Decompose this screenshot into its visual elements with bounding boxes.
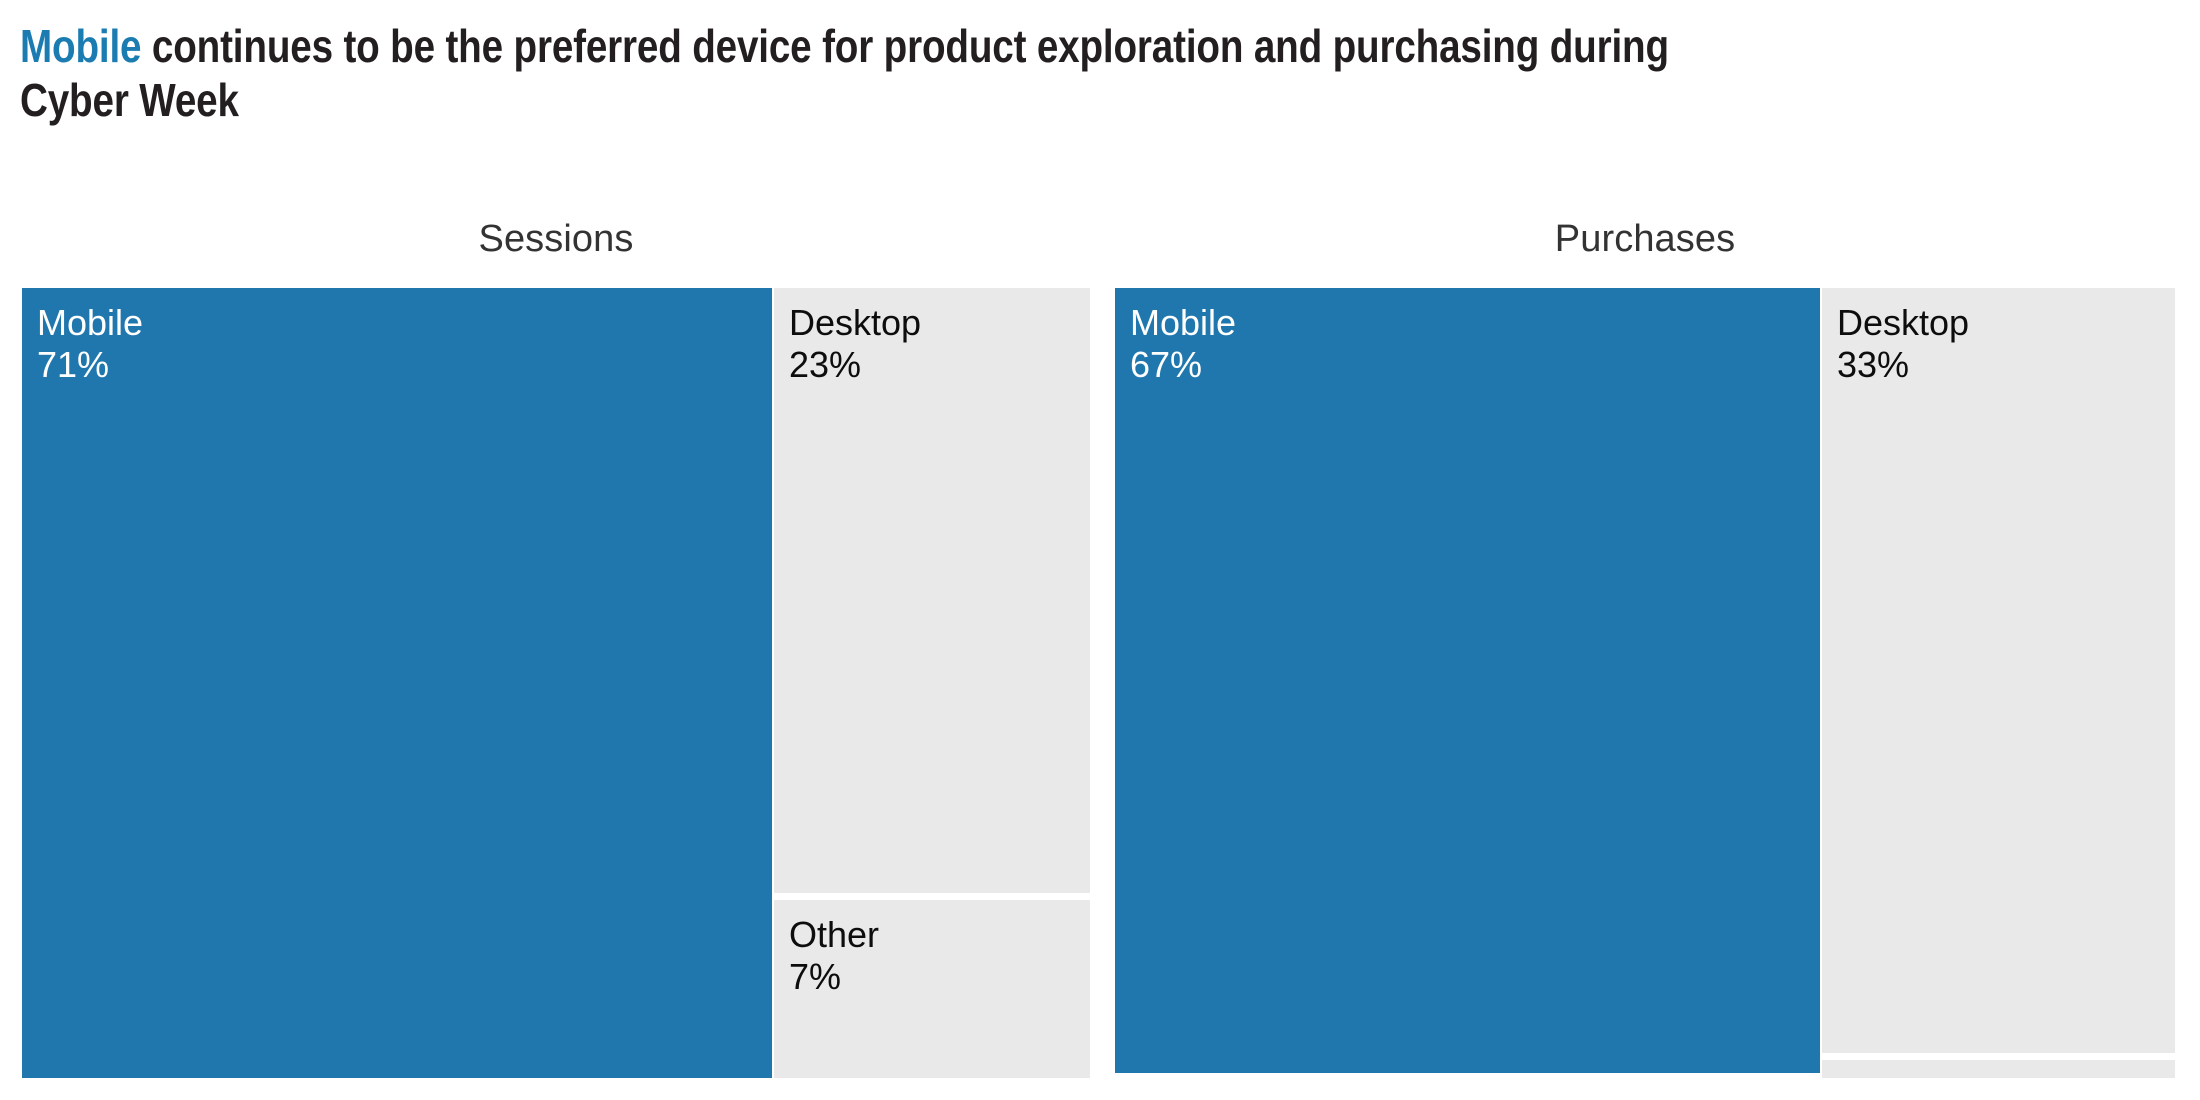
panel-purchases: Purchases Mobile 67% Desktop 33% Other — [1115, 288, 2175, 1078]
purchases-segment-other[interactable]: Other — [1822, 1060, 2175, 1078]
sessions-secondary-column: Desktop 23% Other 7% — [774, 288, 1090, 1078]
purchases-mobile-name: Mobile — [1130, 302, 1236, 343]
panel-purchases-title: Purchases — [1115, 218, 2175, 261]
treemap-chart-area: Sessions Mobile 71% Desktop 23% Other — [0, 0, 2200, 1100]
purchases-mobile-column: Mobile 67% — [1115, 288, 1820, 1078]
sessions-mobile-name: Mobile — [37, 302, 143, 343]
sessions-desktop-name: Desktop — [789, 302, 921, 343]
panel-sessions: Sessions Mobile 71% Desktop 23% Other — [22, 288, 1090, 1078]
sessions-mobile-pct: 71% — [37, 344, 143, 386]
purchases-other-name: Other — [1837, 1074, 1927, 1078]
purchases-mobile-pct: 67% — [1130, 344, 1236, 386]
sessions-desktop-pct: 23% — [789, 344, 921, 386]
purchases-desktop-label: Desktop 33% — [1837, 302, 1969, 386]
purchases-desktop-pct: 33% — [1837, 344, 1969, 386]
panel-sessions-title: Sessions — [22, 218, 1090, 261]
sessions-other-name: Other — [789, 914, 879, 955]
sessions-segment-other[interactable]: Other 7% — [774, 900, 1090, 1078]
sessions-segment-mobile[interactable]: Mobile 71% — [22, 288, 772, 1078]
purchases-segment-desktop[interactable]: Desktop 33% — [1822, 288, 2175, 1053]
purchases-secondary-column: Desktop 33% Other — [1822, 288, 2175, 1078]
sessions-desktop-label: Desktop 23% — [789, 302, 921, 386]
purchases-desktop-name: Desktop — [1837, 302, 1969, 343]
sessions-mobile-column: Mobile 71% — [22, 288, 772, 1078]
sessions-other-label: Other 7% — [789, 914, 879, 998]
sessions-other-pct: 7% — [789, 956, 879, 998]
purchases-segment-mobile[interactable]: Mobile 67% — [1115, 288, 1820, 1073]
sessions-mobile-label: Mobile 71% — [37, 302, 143, 386]
sessions-segment-desktop[interactable]: Desktop 23% — [774, 288, 1090, 893]
purchases-other-label: Other — [1837, 1074, 1927, 1078]
purchases-mobile-label: Mobile 67% — [1130, 302, 1236, 386]
